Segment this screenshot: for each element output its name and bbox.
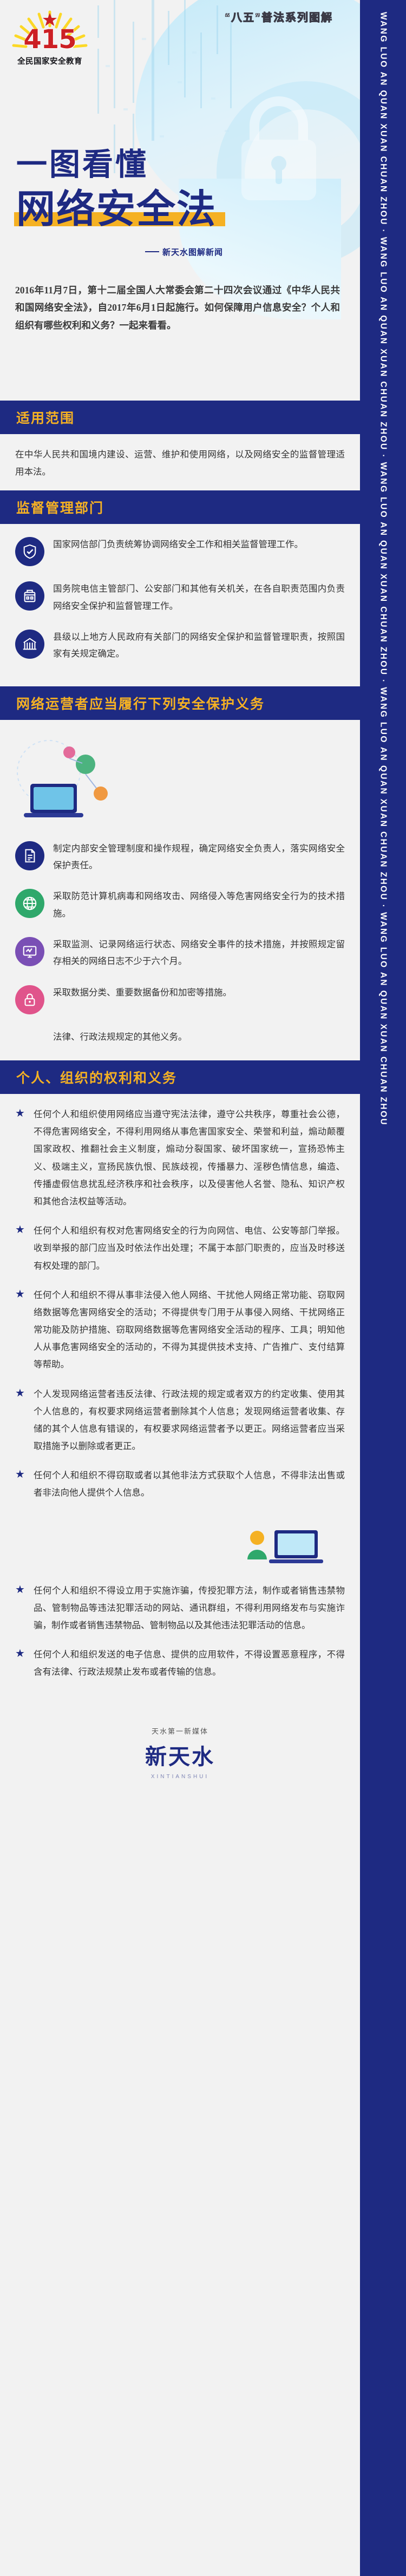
rights-bullet-text: 任何个人和组织不得从事非法侵入他人网络、干扰他人网络正常功能、窃取网络数据等危害… <box>34 1287 345 1374</box>
footer-slogan: 天水第一新媒体 <box>152 1726 208 1736</box>
operator-duty-text: 采取监测、记录网络运行状态、网络安全事件的技术措施，并按照规定留存相关的网络日志… <box>53 936 345 970</box>
rail-text: WANG LUO AN QUAN XUAN CHUAN ZHOU · WANG … <box>379 12 388 1126</box>
document-gear-icon <box>15 841 44 870</box>
page-title-line2: 网络安全法 <box>16 189 217 228</box>
network-shield-icon <box>15 537 44 566</box>
padlock-decoration-icon <box>217 81 341 217</box>
section-body-supervision: 国家网信部门负责统筹协调网络安全工作和相关监督管理工作。 国务院电信主管部门、公… <box>0 524 360 686</box>
vertical-pinyin-rail: WANG LUO AN QUAN XUAN CHUAN ZHOU · WANG … <box>360 0 406 2576</box>
rights-bullet-text: 任何个人和组织不得设立用于实施诈骗，传授犯罪方法，制作或者销售违禁物品、管制物品… <box>34 1582 345 1635</box>
supervision-item-text: 国务院电信主管部门、公安部门和其他有关机关，在各自职责范围内负责网络安全保护和监… <box>53 580 345 614</box>
footer-brand-pinyin: XINTIANSHUI <box>151 1774 209 1780</box>
page-title-line2-wrap: 网络安全法 <box>16 189 217 228</box>
rights-bullet-text: 任何个人和组织使用网络应当遵守宪法法律，遵守公共秩序，尊重社会公德，不得危害网络… <box>34 1106 345 1210</box>
user-at-desk-icon <box>242 1514 345 1579</box>
operator-duty-item: 制定内部安全管理制度和操作规程，确定网络安全负责人，落实网络安全保护责任。 <box>15 840 345 874</box>
page-title-line1: 一图看懂 <box>16 140 148 184</box>
infographic-page: WANG LUO AN QUAN XUAN CHUAN ZHOU · WANG … <box>0 0 406 2576</box>
star-icon: ★ <box>15 1289 27 1301</box>
section-header-supervision: 监督管理部门 <box>0 490 360 524</box>
supervision-item: 国家网信部门负责统筹协调网络安全工作和相关监督管理工作。 <box>15 536 345 566</box>
operator-duty-item: 采取监测、记录网络运行状态、网络安全事件的技术措施，并按照规定留存相关的网络日志… <box>15 936 345 970</box>
section-header-rights: 个人、组织的权利和义务 <box>0 1060 360 1094</box>
supervision-item-text: 国家网信部门负责统筹协调网络安全工作和相关监督管理工作。 <box>53 536 345 553</box>
rights-bullet: ★ 任何个人和组织不得从事非法侵入他人网络、干扰他人网络正常功能、窃取网络数据等… <box>15 1287 345 1374</box>
logo-subtitle: 全民国家安全教育 <box>12 55 88 67</box>
star-icon: ★ <box>15 1388 27 1400</box>
operator-duty-item: 采取数据分类、重要数据备份和加密等措施。 <box>15 984 345 1014</box>
subtitle-text: 新天水图解新闻 <box>162 248 223 257</box>
supervision-item-text: 县级以上地方人民政府有关部门的网络安全保护和监督管理职责，按照国家有关规定确定。 <box>53 628 345 663</box>
globe-virus-icon <box>15 889 44 918</box>
page-subtitle: 新天水图解新闻 <box>142 246 223 258</box>
network-illustration <box>15 734 345 837</box>
star-icon: ★ <box>15 1584 27 1596</box>
star-icon: ★ <box>15 1648 27 1660</box>
laptop-network-icon <box>15 734 118 837</box>
section-header-scope: 适用范围 <box>0 401 360 434</box>
rights-bullet: ★ 任何个人和组织不得设立用于实施诈骗，传授犯罪方法，制作或者销售违禁物品、管制… <box>15 1582 345 1635</box>
operators-legal-note: 法律、行政法规规定的其他义务。 <box>53 1028 345 1045</box>
footer: 天水第一新媒体 新天水 XINTIANSHUI <box>0 1712 360 1793</box>
rights-bullet: ★ 任何个人和组织不得窃取或者以其他非法方式获取个人信息，不得非法出售或者非法向… <box>15 1467 345 1502</box>
operator-duty-text: 制定内部安全管理制度和操作规程，确定网络安全负责人，落实网络安全保护责任。 <box>53 840 345 874</box>
operator-duty-text: 采取防范计算机病毒和网络攻击、网络侵入等危害网络安全行为的技术措施。 <box>53 888 345 922</box>
footer-brand-logo: 新天水 <box>145 1739 215 1771</box>
415-national-security-logo: 415 全民国家安全教育 <box>12 10 88 72</box>
section-body-rights: ★ 任何个人和组织使用网络应当遵守宪法法律，遵守公共秩序，尊重社会公德，不得危害… <box>0 1094 360 1702</box>
section-header-operators: 网络运营者应当履行下列安全保护义务 <box>0 686 360 720</box>
monitor-log-icon <box>15 937 44 966</box>
rights-bullet: ★ 任何个人和组织使用网络应当遵守宪法法律，遵守公共秩序，尊重社会公德，不得危害… <box>15 1106 345 1210</box>
star-icon: ★ <box>15 1108 27 1120</box>
rights-bullet: ★ 个人发现网络运营者违反法律、行政法规的规定或者双方的约定收集、使用其个人信息… <box>15 1386 345 1456</box>
scope-paragraph: 在中华人民共和国境内建设、运营、维护和使用网络，以及网络安全的监督管理适用本法。 <box>15 446 345 481</box>
hero-banner: 415 全民国家安全教育 “八五”普法系列图解 一图看懂 网络安全法 新天水图解… <box>0 0 360 401</box>
person-computer-illustration <box>15 1514 345 1579</box>
star-icon: ★ <box>15 1469 27 1481</box>
main-column: 415 全民国家安全教育 “八五”普法系列图解 一图看懂 网络安全法 新天水图解… <box>0 0 360 2576</box>
logo-number: 415 <box>12 24 88 55</box>
section-body-scope: 在中华人民共和国境内建设、运营、维护和使用网络，以及网络安全的监督管理适用本法。 <box>0 434 360 490</box>
operator-duty-text: 采取数据分类、重要数据备份和加密等措施。 <box>53 984 345 1001</box>
rights-bullet-text: 任何个人和组织不得窃取或者以其他非法方式获取个人信息，不得非法出售或者非法向他人… <box>34 1467 345 1502</box>
rights-bullet-text: 个人发现网络运营者违反法律、行政法规的规定或者双方的约定收集、使用其个人信息的，… <box>34 1386 345 1456</box>
rights-bullet: ★ 任何个人和组织发送的电子信息、提供的应用软件，不得设置恶意程序，不得含有法律… <box>15 1646 345 1681</box>
intro-paragraph: 2016年11月7日，第十二届全国人大常委会第二十四次会议通过《中华人民共和国网… <box>15 281 340 334</box>
rights-bullet-text: 任何个人和组织有权对危害网络安全的行为向网信、电信、公安等部门举报。收到举报的部… <box>34 1222 345 1275</box>
series-kicker: “八五”普法系列图解 <box>225 9 333 24</box>
star-icon: ★ <box>15 1224 27 1236</box>
supervision-item: 县级以上地方人民政府有关部门的网络安全保护和监督管理职责，按照国家有关规定确定。 <box>15 628 345 663</box>
building-icon <box>15 581 44 611</box>
lock-data-icon <box>15 985 44 1014</box>
gov-building-icon <box>15 630 44 659</box>
supervision-item: 国务院电信主管部门、公安部门和其他有关机关，在各自职责范围内负责网络安全保护和监… <box>15 580 345 614</box>
section-body-operators: 制定内部安全管理制度和操作规程，确定网络安全负责人，落实网络安全保护责任。 采取… <box>0 720 360 1060</box>
rights-bullet: ★ 任何个人和组织有权对危害网络安全的行为向网信、电信、公安等部门举报。收到举报… <box>15 1222 345 1275</box>
operator-duty-item: 采取防范计算机病毒和网络攻击、网络侵入等危害网络安全行为的技术措施。 <box>15 888 345 922</box>
rights-bullet-text: 任何个人和组织发送的电子信息、提供的应用软件，不得设置恶意程序，不得含有法律、行… <box>34 1646 345 1681</box>
